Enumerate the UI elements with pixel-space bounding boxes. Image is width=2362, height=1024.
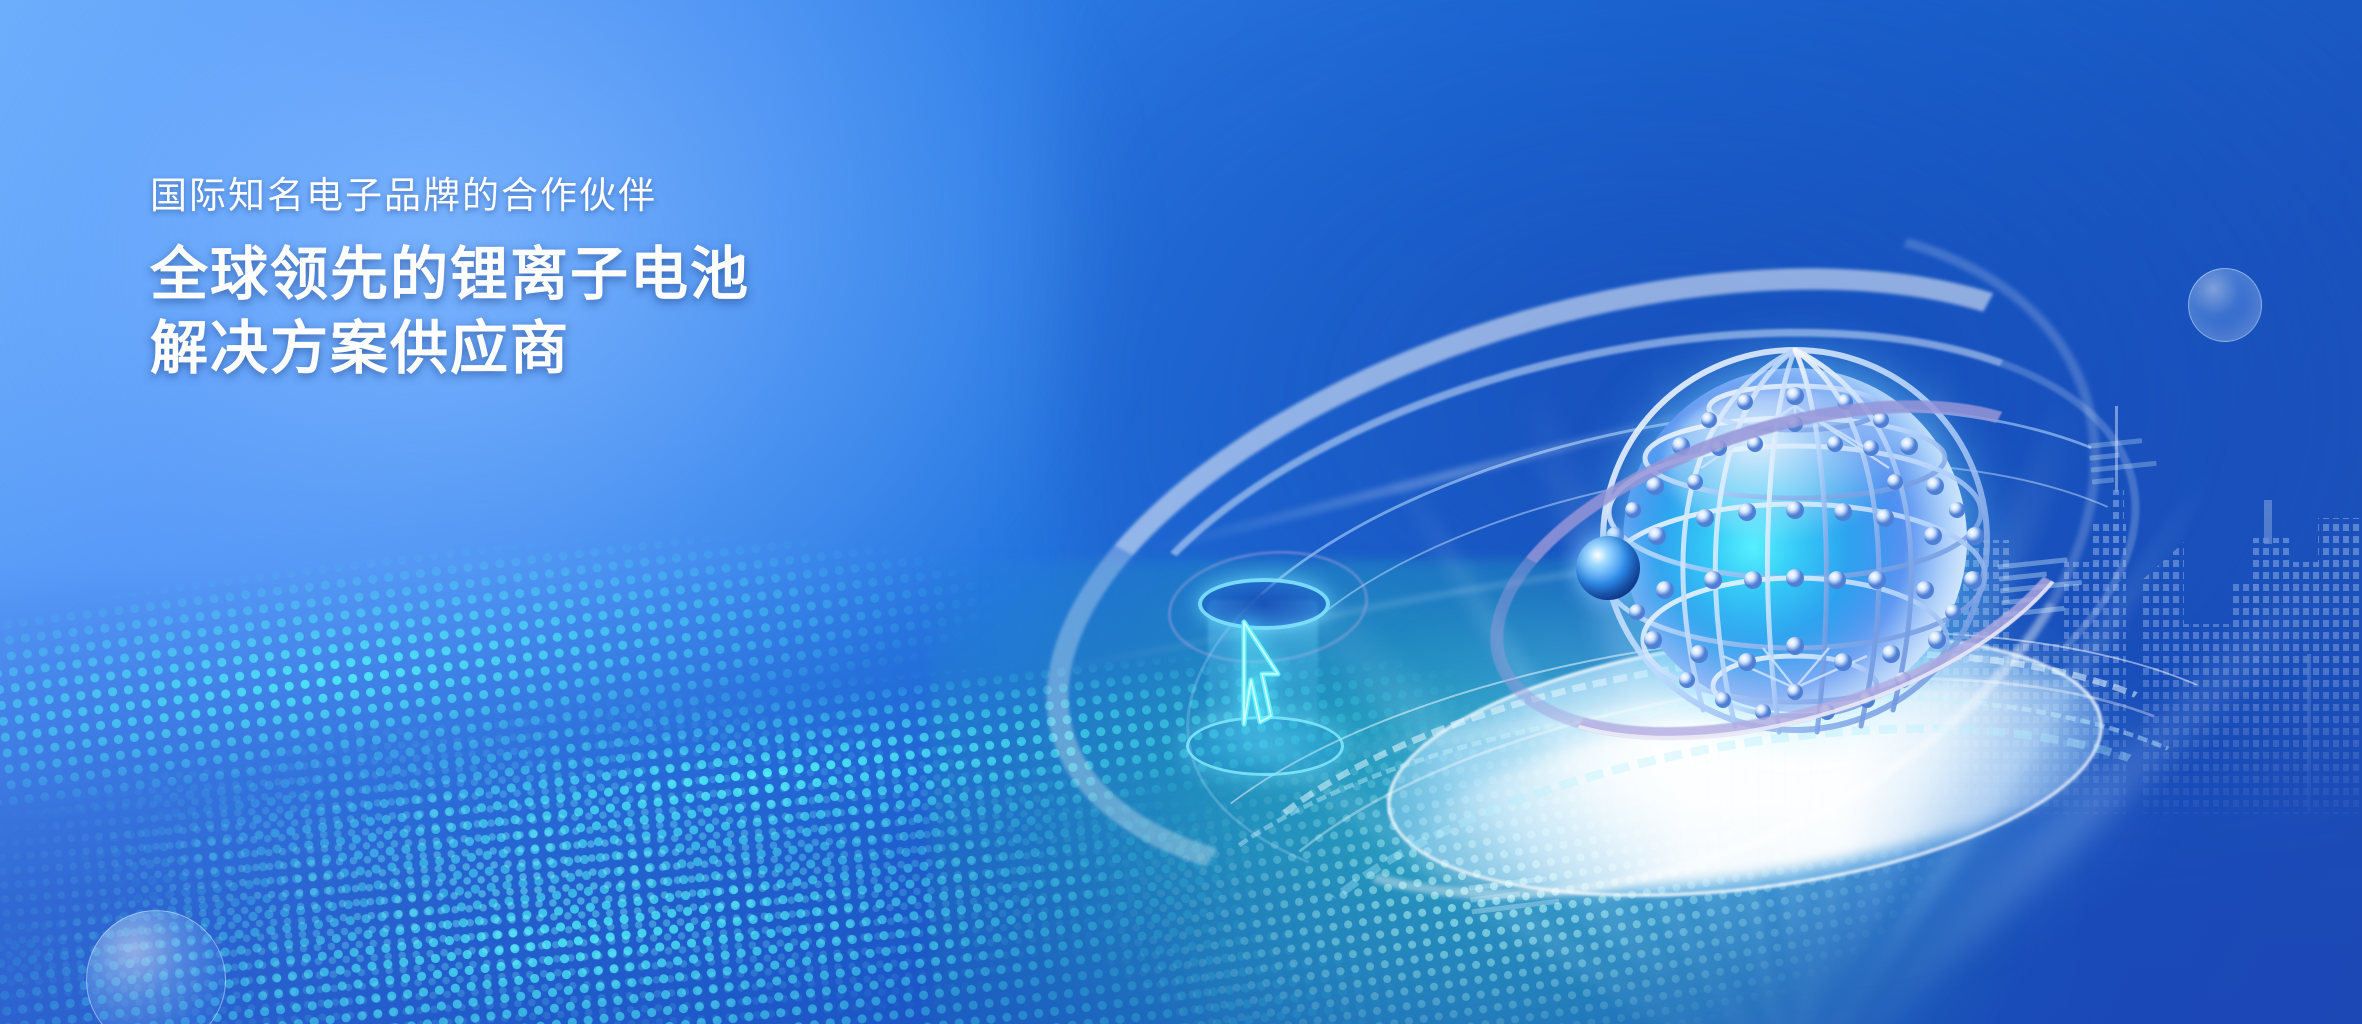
- arrow-cursor-icon: [1238, 612, 1284, 732]
- hero-banner: 国际知名电子品牌的合作伙伴 全球领先的锂离子电池 解决方案供应商: [0, 0, 2362, 1024]
- glass-bubble-top-right: [2188, 268, 2262, 342]
- banner-headline-line-1: 全球领先的锂离子电池: [150, 238, 1050, 312]
- orbit-sphere-bead: [1576, 536, 1640, 600]
- banner-headline: 全球领先的锂离子电池 解决方案供应商: [150, 238, 1050, 386]
- banner-headline-line-2: 解决方案供应商: [150, 312, 1050, 386]
- banner-subtitle: 国际知名电子品牌的合作伙伴: [150, 172, 1050, 220]
- banner-copy: 国际知名电子品牌的合作伙伴 全球领先的锂离子电池 解决方案供应商: [150, 172, 1050, 387]
- tech-dash-block: [2088, 436, 2162, 484]
